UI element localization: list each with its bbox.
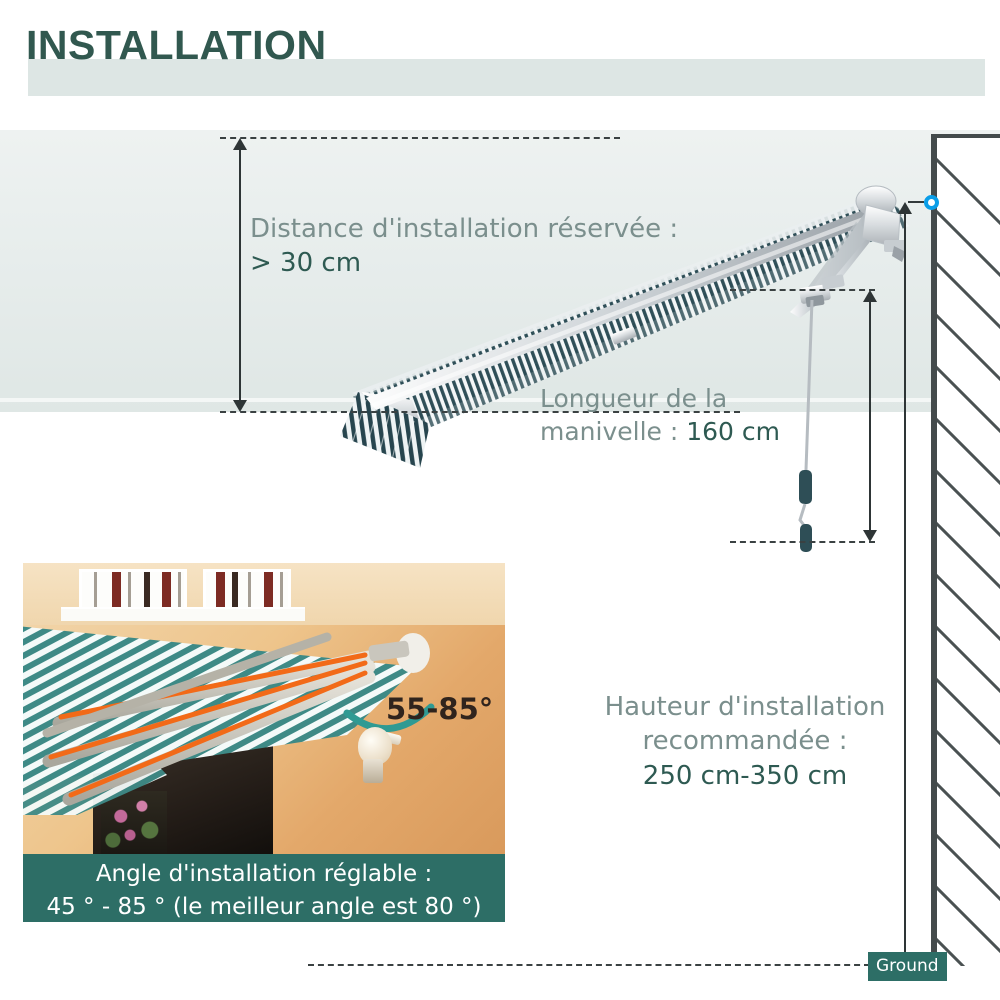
photo-caption-line2: 45 ° - 85 ° (le meilleur angle est 80 °) [46,894,481,920]
photo-angle-label: 55-85° [386,692,493,726]
label-installation-height-value: 250 cm-350 cm [643,761,847,791]
ground-badge: Ground [868,952,947,981]
label-reserved-distance: Distance d'installation réservée :> 30 c… [250,212,770,281]
photo-caption-line1: Angle d'installation réglable : [96,861,432,887]
crank-dimension-line [869,294,871,538]
installation-infographic: INSTALLATION [0,0,1000,1000]
ground-line [308,964,870,966]
crank-top-extension-line [730,289,875,291]
label-crank-length-value: 160 cm [686,417,780,446]
distance-arrow-top-icon [233,138,247,150]
label-installation-height: Hauteur d'installation recommandée :250 … [575,690,915,793]
crank-bottom-extension-line [730,541,875,543]
crank-arrow-bottom-icon [863,530,877,542]
crank-arrow-top-icon [863,290,877,302]
wall-edge-line [931,134,937,966]
photo-lamp-base [363,759,383,783]
height-dimension-line [904,206,906,964]
wall-top-line [931,134,1000,138]
distance-arrow-bottom-icon [233,400,247,412]
photo-caption: Angle d'installation réglable :45 ° - 85… [23,854,505,922]
photo-awning [23,615,447,815]
mount-point-marker-icon [924,195,939,210]
label-installation-height-caption: Hauteur d'installation recommandée : [605,692,886,756]
distance-top-extension-line [220,137,620,139]
height-arrow-top-icon [898,202,912,214]
label-reserved-distance-value: > 30 cm [250,248,361,278]
distance-dimension-line [239,142,241,408]
label-crank-length: Longueur de la manivelle : 160 cm [540,382,840,448]
label-reserved-distance-caption: Distance d'installation réservée : [250,214,678,244]
wall-section [931,134,1000,966]
wall-hatching [931,134,1000,966]
